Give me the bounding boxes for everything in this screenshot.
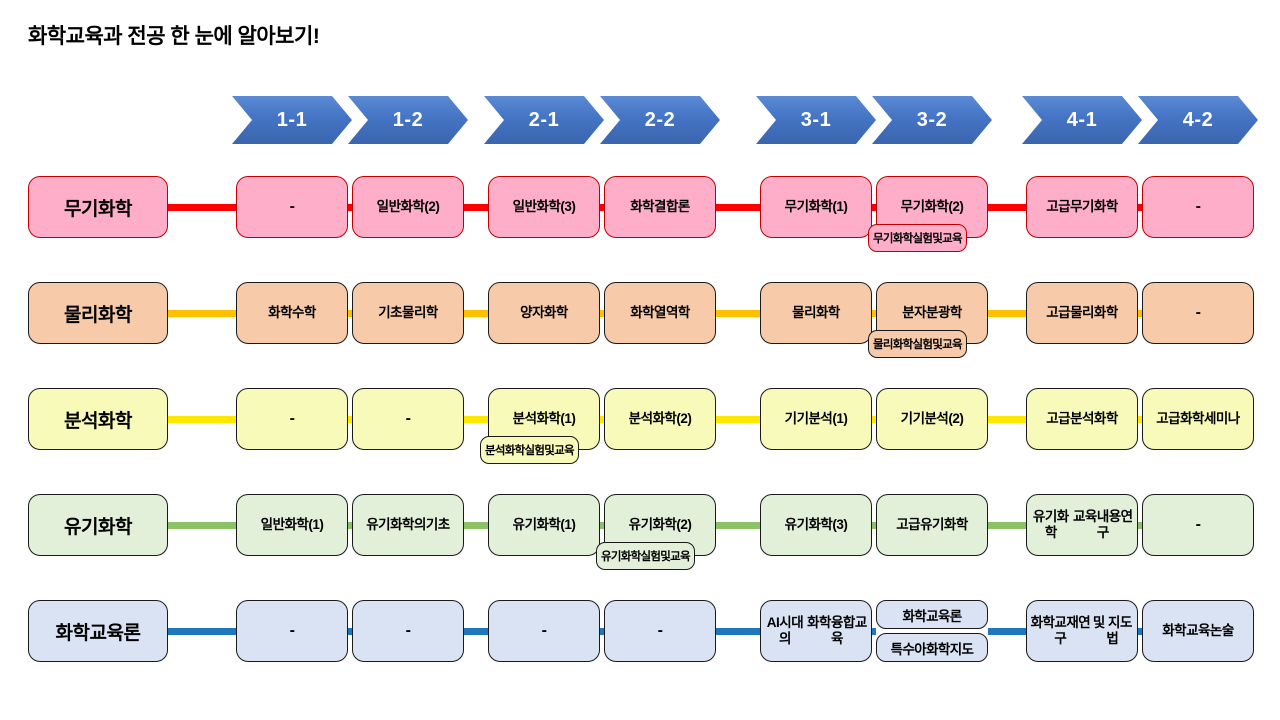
course-box[interactable]: 특수아화학지도 [876,633,988,662]
semester-chevron-3-2[interactable]: 3-2 [872,96,992,144]
connector-line [464,310,488,317]
course-box-empty: - [236,600,348,662]
course-box-empty: - [352,600,464,662]
semester-header-row: 1-11-22-12-23-13-24-14-2 [0,96,1280,144]
connector-line [464,416,488,423]
course-box-empty: - [604,600,716,662]
track-label-무기화학: 무기화학 [28,176,168,238]
connector-line [716,204,760,211]
course-box[interactable]: 일반화학(1) [236,494,348,556]
curriculum-diagram: 화학교육과 전공 한 눈에 알아보기! 1-11-22-12-23-13-24-… [0,0,1280,720]
connector-line [872,628,876,635]
connector-line [988,310,1026,317]
connector-line [168,628,236,635]
course-box[interactable]: 일반화학(2) [352,176,464,238]
course-box[interactable]: 양자화학 [488,282,600,344]
course-box[interactable]: 화학결합론 [604,176,716,238]
course-box[interactable]: 일반화학(3) [488,176,600,238]
semester-chevron-1-2[interactable]: 1-2 [348,96,468,144]
course-box-empty: - [1142,176,1254,238]
course-box[interactable]: 기기분석(2) [876,388,988,450]
course-box[interactable]: 유기화학교육내용연구 [1026,494,1138,556]
connector-line [464,522,488,529]
connector-line [716,628,760,635]
track-row-inorganic: 무기화학-일반화학(2)일반화학(3)화학결합론무기화학(1)무기화학(2)무기… [0,176,1280,272]
course-box[interactable]: 화학수학 [236,282,348,344]
course-box[interactable]: 고급유기화학 [876,494,988,556]
course-box-empty: - [236,388,348,450]
lab-course-box[interactable]: 유기화학실험및교육 [596,542,695,570]
course-box[interactable]: 유기화학(3) [760,494,872,556]
course-box-empty: - [352,388,464,450]
course-box[interactable]: 화학열역학 [604,282,716,344]
course-box[interactable]: 화학교육논술 [1142,600,1254,662]
connector-line [168,204,236,211]
connector-line [464,628,488,635]
course-box[interactable]: 화학교재연구및 지도법 [1026,600,1138,662]
semester-chevron-1-1[interactable]: 1-1 [232,96,352,144]
track-label-분석화학: 분석화학 [28,388,168,450]
connector-line [988,416,1026,423]
course-box[interactable]: 기기분석(1) [760,388,872,450]
semester-chevron-2-2[interactable]: 2-2 [600,96,720,144]
lab-course-box[interactable]: 물리화학실험및교육 [868,330,967,358]
connector-line [168,310,236,317]
track-row-chemed: 화학교육론----AI시대의화학융합교육화학교육론특수아화학지도화학교재연구및 … [0,600,1280,696]
connector-line [988,522,1026,529]
course-box[interactable]: 화학교육론 [876,600,988,629]
track-row-physical: 물리화학화학수학기초물리학양자화학화학열역학물리화학분자분광학물리화학실험및교육… [0,282,1280,378]
course-box-empty: - [1142,282,1254,344]
connector-line [716,310,760,317]
course-box[interactable]: AI시대의화학융합교육 [760,600,872,662]
course-box[interactable]: 유기화학의기초 [352,494,464,556]
track-label-유기화학: 유기화학 [28,494,168,556]
connector-line [168,522,236,529]
track-label-화학교육론: 화학교육론 [28,600,168,662]
course-box-empty: - [488,600,600,662]
connector-line [988,628,1026,635]
course-box[interactable]: 물리화학 [760,282,872,344]
course-box[interactable]: 고급분석화학 [1026,388,1138,450]
course-box[interactable]: 분석화학(2) [604,388,716,450]
course-box[interactable]: 유기화학(1) [488,494,600,556]
track-row-organic: 유기화학일반화학(1)유기화학의기초유기화학(1)유기화학(2)유기화학실험및교… [0,494,1280,590]
connector-line [716,416,760,423]
semester-chevron-4-1[interactable]: 4-1 [1022,96,1142,144]
semester-chevron-4-2[interactable]: 4-2 [1138,96,1258,144]
connector-line [716,522,760,529]
connector-line [464,204,488,211]
semester-chevron-3-1[interactable]: 3-1 [756,96,876,144]
track-label-물리화학: 물리화학 [28,282,168,344]
connector-line [988,204,1026,211]
course-box-empty: - [236,176,348,238]
course-box[interactable]: 무기화학(1) [760,176,872,238]
course-box-empty: - [1142,494,1254,556]
connector-line [168,416,236,423]
page-title: 화학교육과 전공 한 눈에 알아보기! [28,20,319,50]
course-box[interactable]: 기초물리학 [352,282,464,344]
lab-course-box[interactable]: 무기화학실험및교육 [868,224,967,252]
course-box[interactable]: 고급화학세미나 [1142,388,1254,450]
course-box[interactable]: 고급물리화학 [1026,282,1138,344]
track-row-analytical: 분석화학--분석화학(1)분석화학실험및교육분석화학(2)기기분석(1)기기분석… [0,388,1280,484]
semester-chevron-2-1[interactable]: 2-1 [484,96,604,144]
lab-course-box[interactable]: 분석화학실험및교육 [480,436,579,464]
course-box[interactable]: 고급무기화학 [1026,176,1138,238]
